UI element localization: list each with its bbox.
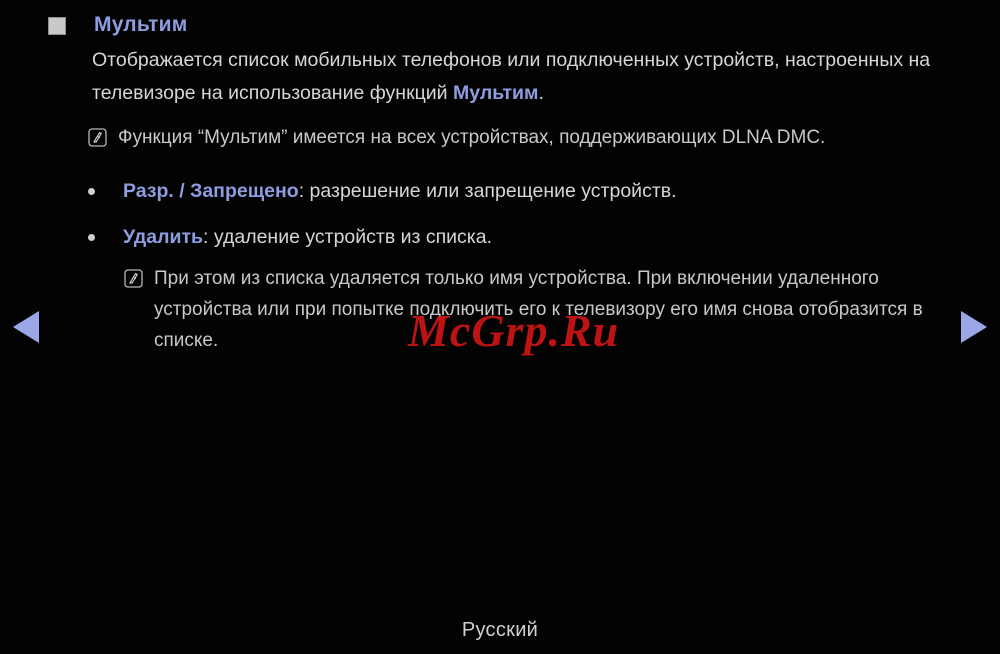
intro-highlight: Мультим	[453, 82, 538, 104]
previous-page-arrow-icon[interactable]	[13, 311, 39, 343]
section-title: Мультим	[94, 10, 187, 40]
note-pencil-icon	[124, 269, 143, 288]
option-label-delete: Удалить	[123, 226, 203, 248]
list-item-content: Разр. / Запрещено: разрешение или запрещ…	[123, 175, 950, 207]
option-description: : разрешение или запрещение устройств.	[299, 180, 677, 202]
note-top: Функция “Мультим” имеется на всех устрой…	[0, 122, 1000, 153]
list-item: Разр. / Запрещено: разрешение или запрещ…	[0, 175, 1000, 207]
intro-text-part2: .	[538, 82, 543, 104]
intro-paragraph: Отображается список мобильных телефонов …	[0, 44, 1000, 110]
page-content: Мультим Отображается список мобильных те…	[0, 0, 1000, 356]
list-item: Удалить: удаление устройств из списка.	[0, 221, 1000, 253]
note-nested: При этом из списка удаляется только имя …	[0, 263, 1000, 356]
manual-page: Мультим Отображается список мобильных те…	[0, 0, 1000, 654]
footer-language-label: Русский	[0, 619, 1000, 642]
note-pencil-icon	[88, 128, 107, 147]
option-description: : удаление устройств из списка.	[203, 226, 492, 248]
dot-bullet-icon	[88, 234, 95, 241]
option-separator: /	[174, 180, 190, 202]
section-heading: Мультим	[0, 10, 1000, 40]
option-label-deny: Запрещено	[190, 180, 299, 202]
dot-bullet-icon	[88, 188, 95, 195]
option-label-allow: Разр.	[123, 180, 174, 202]
note-nested-text: При этом из списка удаляется только имя …	[154, 263, 940, 356]
note-top-text: Функция “Мультим” имеется на всех устрой…	[118, 122, 940, 153]
list-item-content: Удалить: удаление устройств из списка.	[123, 221, 950, 253]
next-page-arrow-icon[interactable]	[961, 311, 987, 343]
square-bullet-icon	[48, 17, 66, 35]
